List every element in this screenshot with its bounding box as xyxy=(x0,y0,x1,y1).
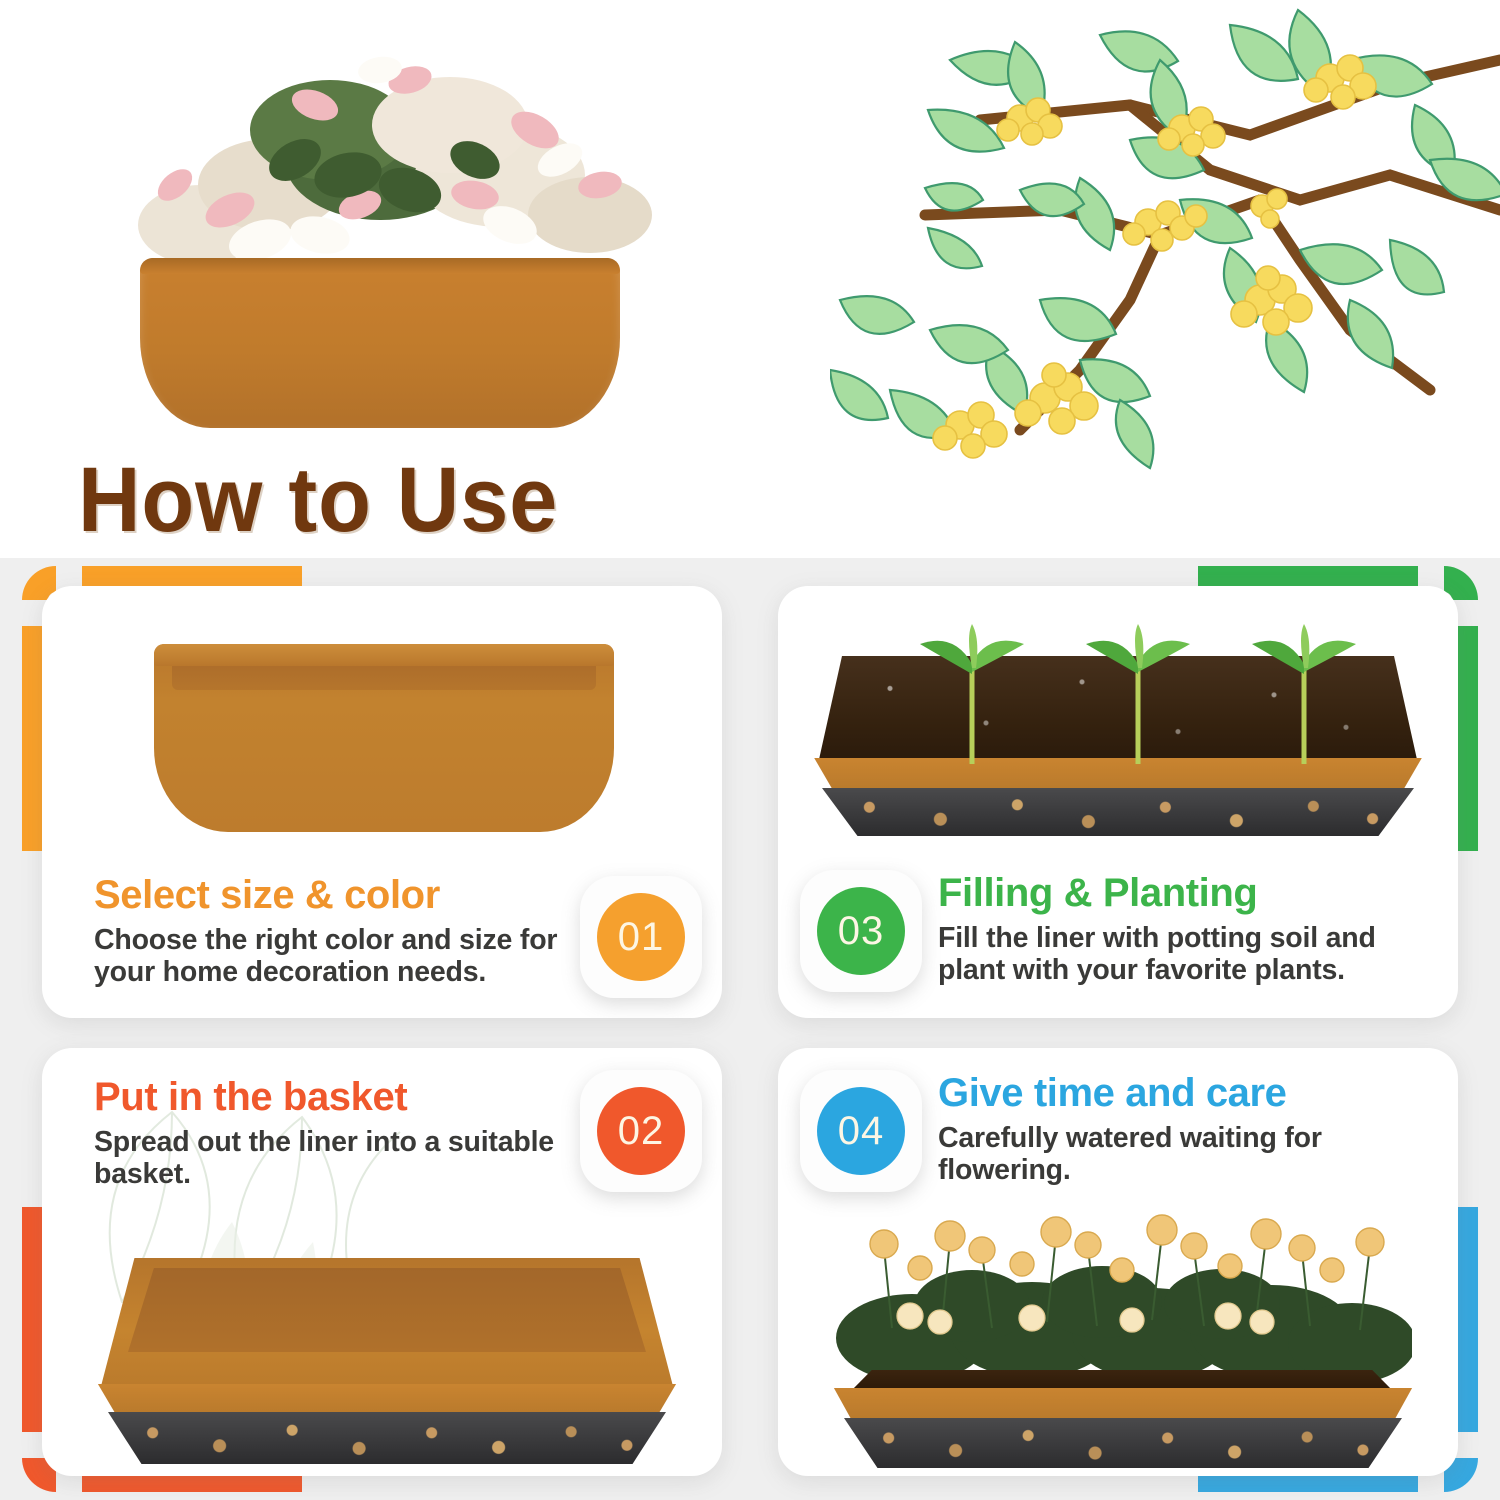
seedling-icon xyxy=(1078,624,1198,764)
step-card-02[interactable]: Put in the basket Spread out the liner i… xyxy=(42,1048,722,1476)
step-card-03[interactable]: 03 Filling & Planting Fill the liner wit… xyxy=(778,586,1458,1018)
step-04-body: Carefully watered waiting for flowering. xyxy=(938,1122,1448,1187)
step-02-badge-tile[interactable]: 02 xyxy=(580,1070,702,1192)
seedling-icon xyxy=(912,624,1032,764)
step-03-badge-tile[interactable]: 03 xyxy=(800,870,922,992)
step-01-body: Choose the right color and size for your… xyxy=(94,924,614,989)
step-04-badge-number: 04 xyxy=(817,1087,905,1175)
rose-bush-graphic xyxy=(832,1198,1412,1384)
planter-with-roses xyxy=(802,1198,1442,1470)
step-04-badge-tile[interactable]: 04 xyxy=(800,1070,922,1192)
step-01-heading: Select size & color xyxy=(94,874,614,916)
step-03-badge-number: 03 xyxy=(817,887,905,975)
step-01-badge-tile[interactable]: 01 xyxy=(580,876,702,998)
page-title: How to Use xyxy=(78,448,558,553)
planter-with-seedlings xyxy=(800,624,1436,834)
step-02-heading: Put in the basket xyxy=(94,1076,614,1118)
step-01-badge-number: 01 xyxy=(597,893,685,981)
step-03-body: Fill the liner with potting soil and pla… xyxy=(938,922,1448,987)
hero-banner: How to Use xyxy=(0,0,1500,560)
steps-grid: Select size & color Choose the right col… xyxy=(0,558,1500,1500)
step-02-media xyxy=(42,1240,722,1476)
step-03-heading: Filling & Planting xyxy=(938,872,1448,914)
step-02-badge-number: 02 xyxy=(597,1087,685,1175)
step-03-text: Filling & Planting Fill the liner with p… xyxy=(938,872,1448,987)
seedling-icon xyxy=(1244,624,1364,764)
planter-in-basket xyxy=(66,1258,706,1468)
step-02-text: Put in the basket Spread out the liner i… xyxy=(94,1076,614,1191)
step-01-text: Select size & color Choose the right col… xyxy=(94,874,614,989)
hero-planter xyxy=(140,258,620,428)
step-04-text: Give time and care Carefully watered wai… xyxy=(938,1072,1448,1187)
step-card-04[interactable]: 04 Give time and care Carefully watered … xyxy=(778,1048,1458,1476)
step-03-media xyxy=(778,586,1458,852)
planter-liner-empty xyxy=(154,644,614,832)
step-02-body: Spread out the liner into a suitable bas… xyxy=(94,1126,614,1191)
osmanthus-branch-illustration xyxy=(830,0,1500,470)
step-card-01[interactable]: Select size & color Choose the right col… xyxy=(42,586,722,1018)
step-04-heading: Give time and care xyxy=(938,1072,1448,1114)
step-04-media xyxy=(778,1198,1458,1476)
step-01-media xyxy=(42,586,722,856)
